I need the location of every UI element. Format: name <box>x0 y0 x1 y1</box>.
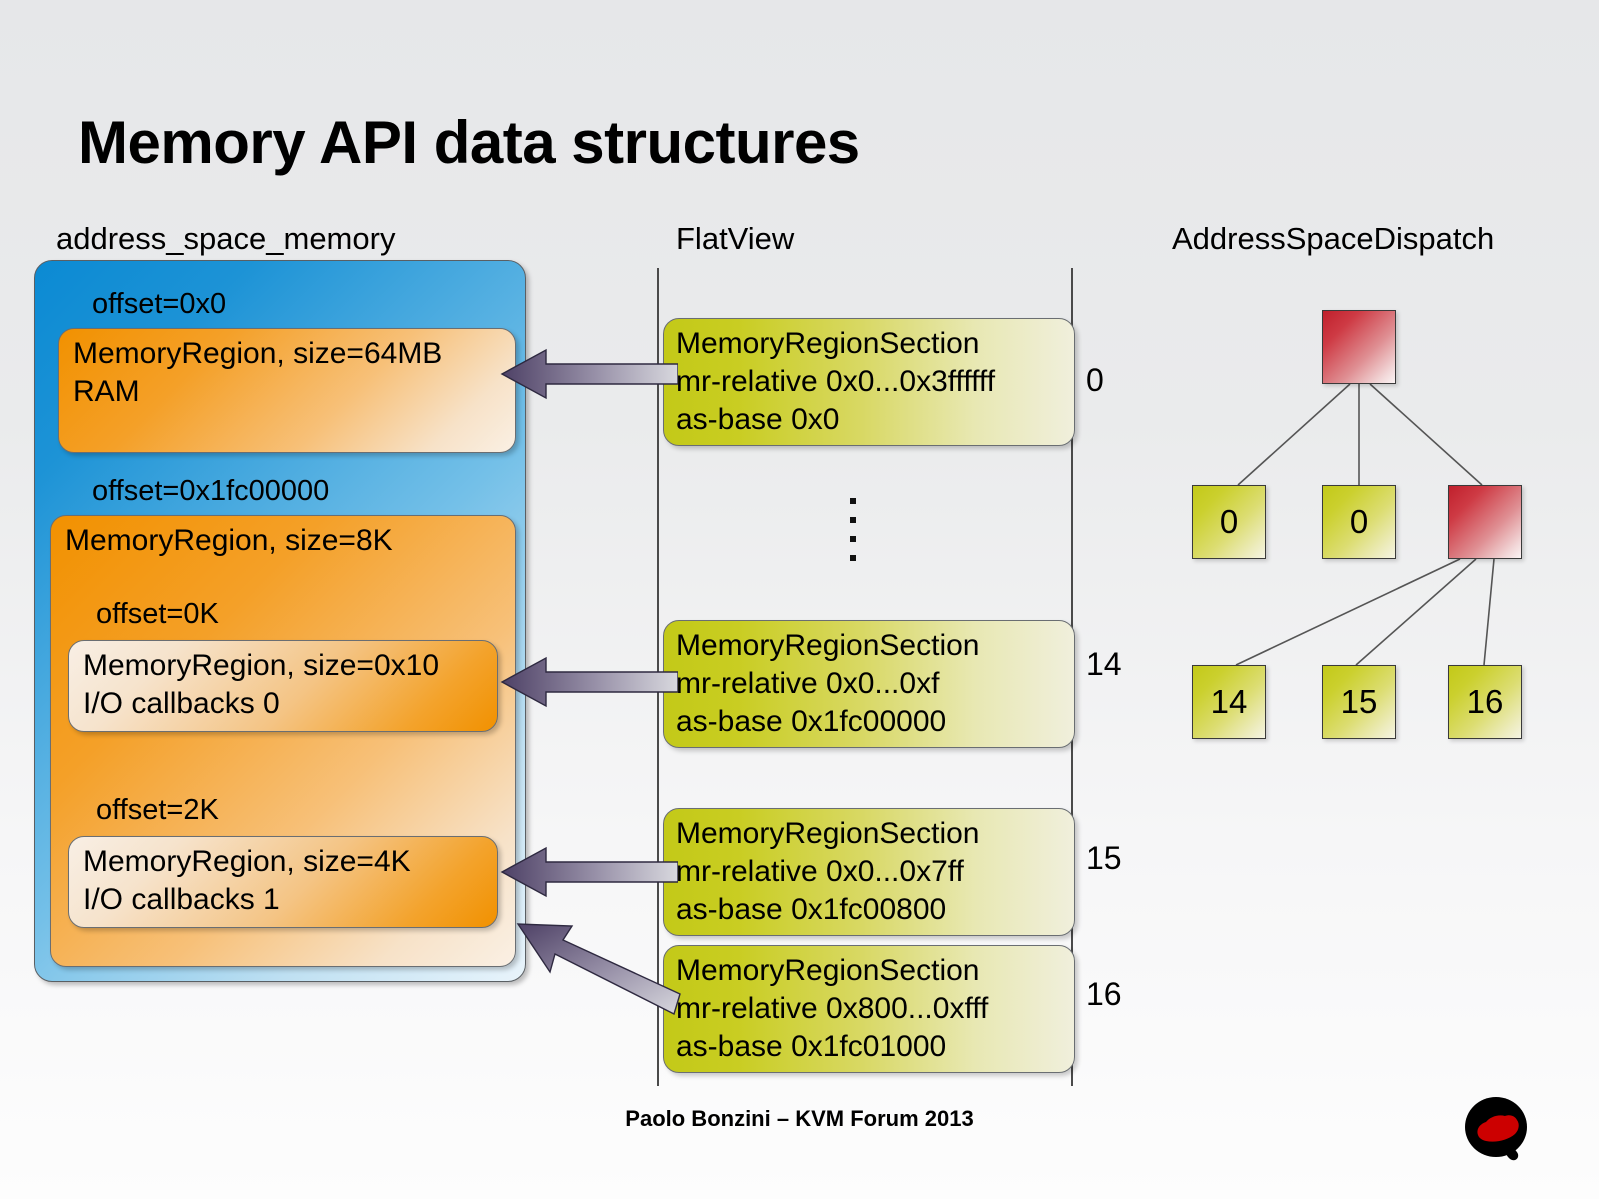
page-title: Memory API data structures <box>78 108 860 177</box>
memory-region-io0-line1: MemoryRegion, size=0x10 <box>83 647 485 685</box>
offset-label-ram: offset=0x0 <box>92 288 226 321</box>
flatview-index-14: 14 <box>1086 646 1122 683</box>
offset-label-io-callbacks-1: offset=2K <box>96 794 219 827</box>
footer-attribution: Paolo Bonzini – KVM Forum 2013 <box>0 1106 1599 1132</box>
mrs15-mr-relative: mr-relative 0x0...0x7ff <box>676 853 1064 891</box>
offset-label-io-callbacks-0: offset=0K <box>96 598 219 631</box>
mrs0-as-base: as-base 0x0 <box>676 401 1064 439</box>
mrs15-as-base: as-base 0x1fc00800 <box>676 891 1064 929</box>
memory-region-io0-line2: I/O callbacks 0 <box>83 685 485 723</box>
dispatch-node-root[interactable] <box>1322 310 1396 384</box>
dispatch-node-subtree[interactable] <box>1448 485 1522 559</box>
flatview-index-16: 16 <box>1086 976 1122 1013</box>
memory-region-ram-line1: MemoryRegion, size=64MB <box>73 335 503 373</box>
mrs16-title: MemoryRegionSection <box>676 952 1064 990</box>
memory-region-ram-line2: RAM <box>73 373 503 411</box>
memory-region-io-callbacks-1[interactable]: MemoryRegion, size=4K I/O callbacks 1 <box>68 836 498 928</box>
dispatch-tree: 0 0 14 15 16 <box>1160 280 1580 780</box>
memory-region-section-15[interactable]: MemoryRegionSection mr-relative 0x0...0x… <box>663 808 1075 936</box>
column-heading-address-space: address_space_memory <box>56 221 395 257</box>
memory-region-io1-line2: I/O callbacks 1 <box>83 881 485 919</box>
mrs0-mr-relative: mr-relative 0x0...0x3ffffff <box>676 363 1064 401</box>
memory-region-container-8k-line1: MemoryRegion, size=8K <box>65 522 503 560</box>
column-heading-dispatch: AddressSpaceDispatch <box>1172 221 1494 257</box>
dispatch-node-leaf-0a[interactable]: 0 <box>1192 485 1266 559</box>
mrs14-title: MemoryRegionSection <box>676 627 1064 665</box>
slide-canvas: Memory API data structures address_space… <box>0 0 1599 1199</box>
mrs16-as-base: as-base 0x1fc01000 <box>676 1028 1064 1066</box>
flatview-ellipsis-icon <box>850 498 856 561</box>
offset-label-container-8k: offset=0x1fc00000 <box>92 475 329 508</box>
memory-region-io-callbacks-0[interactable]: MemoryRegion, size=0x10 I/O callbacks 0 <box>68 640 498 732</box>
mrs14-as-base: as-base 0x1fc00000 <box>676 703 1064 741</box>
flatview-left-rule <box>657 268 659 1086</box>
dispatch-node-leaf-15[interactable]: 15 <box>1322 665 1396 739</box>
mrs16-mr-relative: mr-relative 0x800...0xfff <box>676 990 1064 1028</box>
red-hat-shadowman-logo-icon <box>1448 1091 1544 1169</box>
flatview-index-15: 15 <box>1086 840 1122 877</box>
dispatch-node-leaf-0b[interactable]: 0 <box>1322 485 1396 559</box>
mrs15-title: MemoryRegionSection <box>676 815 1064 853</box>
memory-region-section-16[interactable]: MemoryRegionSection mr-relative 0x800...… <box>663 945 1075 1073</box>
memory-region-section-14[interactable]: MemoryRegionSection mr-relative 0x0...0x… <box>663 620 1075 748</box>
mrs14-mr-relative: mr-relative 0x0...0xf <box>676 665 1064 703</box>
dispatch-node-leaf-16[interactable]: 16 <box>1448 665 1522 739</box>
column-heading-flatview: FlatView <box>676 221 794 257</box>
mrs0-title: MemoryRegionSection <box>676 325 1064 363</box>
memory-region-section-0[interactable]: MemoryRegionSection mr-relative 0x0...0x… <box>663 318 1075 446</box>
flatview-index-0: 0 <box>1086 362 1104 399</box>
memory-region-ram[interactable]: MemoryRegion, size=64MB RAM <box>58 328 516 453</box>
memory-region-io1-line1: MemoryRegion, size=4K <box>83 843 485 881</box>
dispatch-node-leaf-14[interactable]: 14 <box>1192 665 1266 739</box>
